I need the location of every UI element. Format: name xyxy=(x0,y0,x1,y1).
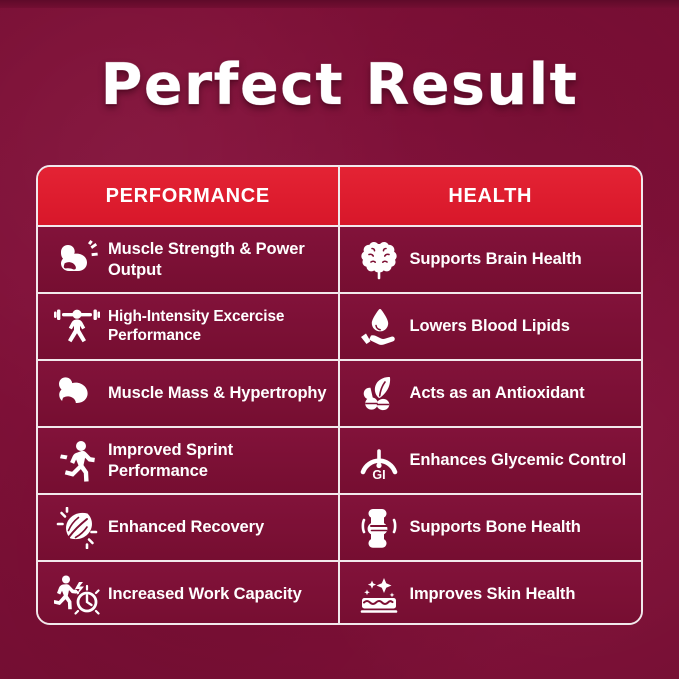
page-title: Perfect Result xyxy=(0,52,679,118)
table-row: High-Intensity Excercise Performance Low… xyxy=(38,292,641,359)
benefits-table: PERFORMANCE HEALTH Muscle Strengt xyxy=(36,165,643,625)
column-header-health: HEALTH xyxy=(340,167,642,225)
flexed-bicep-icon xyxy=(48,234,106,286)
cell-health: Improves Skin Health xyxy=(340,562,642,625)
cell-health: Supports Brain Health xyxy=(340,227,642,292)
column-header-performance-label: PERFORMANCE xyxy=(106,185,270,208)
glycemic-gauge-icon-text: GI xyxy=(372,468,385,482)
table-row: Improved Sprint Performance GI Enhances … xyxy=(38,426,641,493)
top-band xyxy=(0,0,679,8)
leaf-capsule-icon xyxy=(350,368,408,420)
cell-health: Lowers Blood Lipids xyxy=(340,294,642,359)
table-body: Muscle Strength & Power Output Supports … xyxy=(38,225,641,625)
cell-health-label: Lowers Blood Lipids xyxy=(408,316,636,336)
cell-performance: Increased Work Capacity xyxy=(38,562,340,625)
cell-performance-label: Increased Work Capacity xyxy=(106,584,332,604)
table-row: Muscle Strength & Power Output Supports … xyxy=(38,225,641,292)
glycemic-gauge-icon: GI xyxy=(350,435,408,487)
cell-performance-label: High-Intensity Excercise Performance xyxy=(106,308,332,346)
cell-health-label: Supports Brain Health xyxy=(408,249,636,269)
cell-performance: Enhanced Recovery xyxy=(38,495,340,560)
skin-sparkle-icon xyxy=(350,569,408,621)
cell-performance: High-Intensity Excercise Performance xyxy=(38,294,340,359)
worker-energy-icon xyxy=(48,569,106,621)
cell-health: Acts as an Antioxidant xyxy=(340,361,642,426)
table-row: Increased Work Capacity xyxy=(38,560,641,625)
cell-health: GI Enhances Glycemic Control xyxy=(340,428,642,493)
cell-health: Supports Bone Health xyxy=(340,495,642,560)
table-row: Muscle Mass & Hypertrophy Acts as xyxy=(38,359,641,426)
cell-health-label: Supports Bone Health xyxy=(408,517,636,537)
blood-drop-hand-icon xyxy=(350,301,408,353)
cell-performance-label: Enhanced Recovery xyxy=(106,517,332,537)
weightlifter-icon xyxy=(48,301,106,353)
cell-performance: Improved Sprint Performance xyxy=(38,428,340,493)
recovery-cell-icon xyxy=(48,502,106,554)
cell-performance-label: Improved Sprint Performance xyxy=(106,440,332,480)
muscle-arm-icon xyxy=(48,368,106,420)
cell-performance-label: Muscle Mass & Hypertrophy xyxy=(106,383,332,403)
brain-icon xyxy=(350,234,408,286)
poster-canvas: Perfect Result PERFORMANCE HEALTH xyxy=(0,0,679,679)
column-header-performance: PERFORMANCE xyxy=(38,167,340,225)
table-row: Enhanced Recovery Supports Bone Health xyxy=(38,493,641,560)
cell-health-label: Enhances Glycemic Control xyxy=(408,450,636,470)
cell-health-label: Improves Skin Health xyxy=(408,584,636,604)
cell-performance: Muscle Strength & Power Output xyxy=(38,227,340,292)
table-header-row: PERFORMANCE HEALTH xyxy=(38,167,641,225)
cell-performance-label: Muscle Strength & Power Output xyxy=(106,239,332,279)
cell-performance: Muscle Mass & Hypertrophy xyxy=(38,361,340,426)
knee-joint-icon xyxy=(350,502,408,554)
column-header-health-label: HEALTH xyxy=(448,185,532,208)
cell-health-label: Acts as an Antioxidant xyxy=(408,383,636,403)
running-person-icon xyxy=(48,435,106,487)
